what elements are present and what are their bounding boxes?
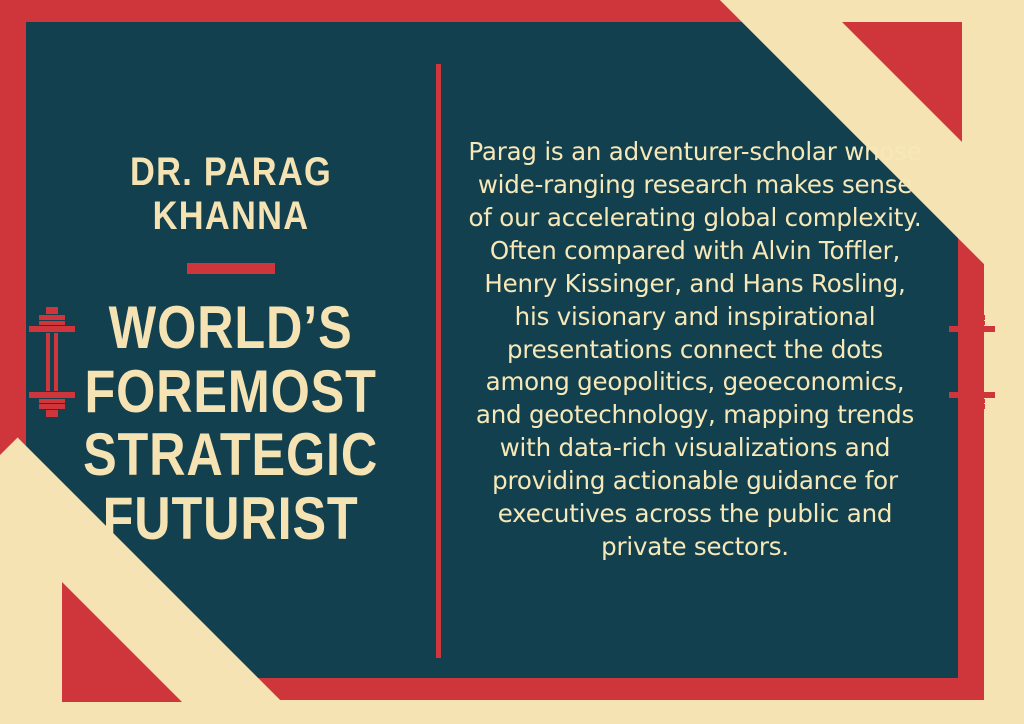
headline-line-4: FUTURIST	[83, 487, 378, 551]
pillar-ornament-left	[24, 307, 80, 417]
headline-line-2: FOREMOST	[83, 360, 378, 424]
poster-content: DR. PARAG KHANNA WORLD’S FOREMOST STRATE…	[26, 22, 958, 678]
title-column: DR. PARAG KHANNA WORLD’S FOREMOST STRATE…	[26, 22, 436, 678]
speaker-name-line-2: KHANNA	[153, 194, 310, 238]
speaker-name-line-1: DR. PARAG	[130, 150, 332, 194]
speaker-bio-poster: DR. PARAG KHANNA WORLD’S FOREMOST STRATE…	[0, 0, 1024, 724]
bio-column: Parag is an adventurer-scholar whose wid…	[436, 22, 958, 678]
pillar-ornament-right	[944, 307, 1000, 417]
headline-line-1: WORLD’S	[83, 296, 378, 360]
title-divider-rule	[187, 263, 275, 274]
speaker-name: DR. PARAG KHANNA	[60, 150, 402, 240]
headline: WORLD’S FOREMOST STRATEGIC FUTURIST	[83, 296, 378, 550]
bio-paragraph: Parag is an adventurer-scholar whose wid…	[466, 136, 924, 564]
headline-line-3: STRATEGIC	[83, 423, 378, 487]
